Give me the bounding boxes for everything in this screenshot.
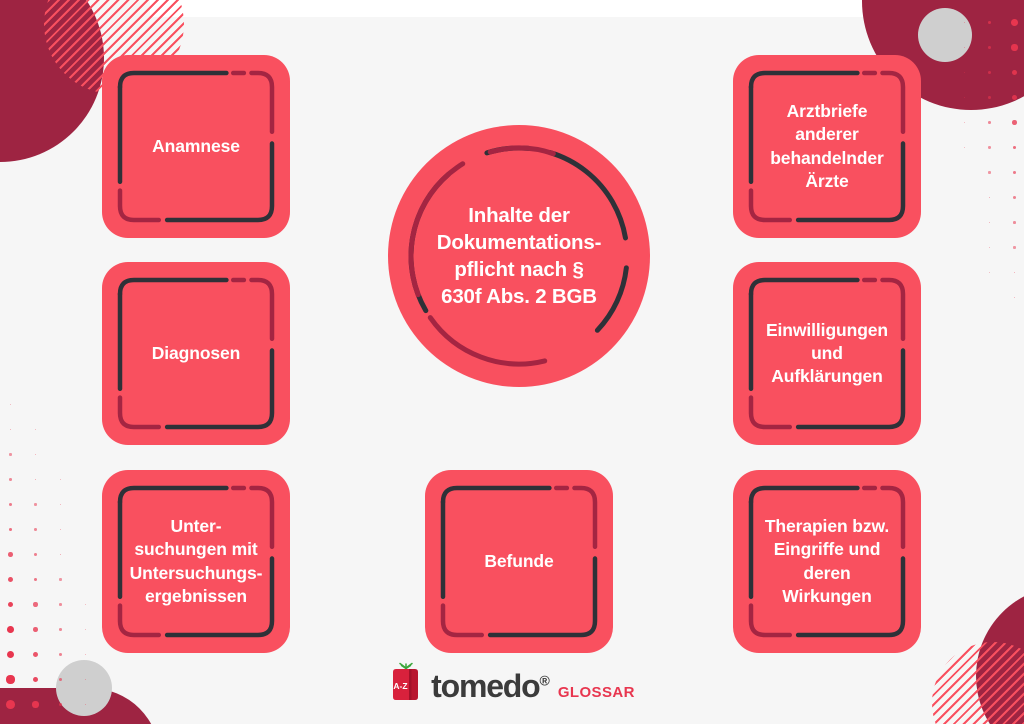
decor-dot xyxy=(60,529,62,531)
decor-dot xyxy=(1013,171,1017,175)
decor-dot xyxy=(10,429,12,431)
decor-bottom-right-maroon-circle xyxy=(976,586,1024,724)
box-line: Arztbriefe xyxy=(770,100,884,123)
decor-dot-grid-right xyxy=(952,10,1024,335)
decor-dot xyxy=(964,47,966,49)
decor-dot xyxy=(1011,44,1017,50)
decor-dot xyxy=(964,122,965,123)
logo: A-Z tomedo® GLOSSAR xyxy=(0,662,1024,702)
logo-wordmark-text: tomedo xyxy=(431,668,539,704)
box-line: deren xyxy=(765,562,889,585)
decor-dot xyxy=(9,528,13,532)
decor-dot xyxy=(8,552,13,557)
box-befunde-label: Befunde xyxy=(474,550,563,573)
tomedo-tomato-book-icon: A-Z xyxy=(389,662,423,702)
box-line: Diagnosen xyxy=(152,342,241,365)
decor-dot xyxy=(1013,221,1016,224)
decor-dot xyxy=(1012,95,1017,100)
decor-dot xyxy=(964,97,965,98)
logo-wordmark: tomedo® xyxy=(431,670,550,702)
decor-dot xyxy=(964,22,966,24)
decor-dot xyxy=(33,627,38,632)
box-untersuchungen-label: Unter- suchungen mit Untersuchungs- erge… xyxy=(120,515,273,608)
decor-dot xyxy=(34,553,37,556)
box-anamnese-label: Anamnese xyxy=(142,135,250,158)
box-einwilligungen[interactable]: Einwilligungen und Aufklärungen xyxy=(733,262,921,445)
box-arztbriefe[interactable]: Arztbriefe anderer behandelnder Ärzte xyxy=(733,55,921,238)
box-line: ergebnissen xyxy=(130,585,263,608)
infographic-canvas: Inhalte der Dokumentations- pflicht nach… xyxy=(0,0,1024,724)
box-anamnese[interactable]: Anamnese xyxy=(102,55,290,238)
decor-dot xyxy=(32,701,38,707)
decor-dot xyxy=(85,654,86,655)
decor-dot xyxy=(9,478,12,481)
box-therapien[interactable]: Therapien bzw. Eingriffe und deren Wirku… xyxy=(733,470,921,653)
decor-dot xyxy=(1012,120,1016,124)
box-diagnosen[interactable]: Diagnosen xyxy=(102,262,290,445)
center-line-2: Dokumentations- xyxy=(409,229,629,256)
decor-dot xyxy=(85,604,86,605)
box-line: Therapien bzw. xyxy=(765,515,889,538)
box-befunde[interactable]: Befunde xyxy=(425,470,613,653)
decor-dot xyxy=(8,602,14,608)
box-line: Eingriffe und xyxy=(765,538,889,561)
box-therapien-label: Therapien bzw. Eingriffe und deren Wirku… xyxy=(755,515,899,608)
decor-dot xyxy=(35,479,37,481)
box-arztbriefe-label: Arztbriefe anderer behandelnder Ärzte xyxy=(760,100,894,193)
box-line: suchungen mit xyxy=(130,538,263,561)
decor-dot xyxy=(9,503,12,506)
decor-dot xyxy=(1013,196,1016,199)
decor-dot xyxy=(1012,70,1018,76)
box-line: anderer xyxy=(770,123,884,146)
box-diagnosen-label: Diagnosen xyxy=(142,342,251,365)
decor-dot xyxy=(60,504,61,505)
decor-dot xyxy=(989,272,990,273)
decor-dot xyxy=(59,703,63,707)
box-line: und xyxy=(766,342,888,365)
decor-dot xyxy=(7,651,14,658)
decor-dot xyxy=(988,71,991,74)
center-circle: Inhalte der Dokumentations- pflicht nach… xyxy=(388,125,650,387)
registered-trademark-icon: ® xyxy=(540,672,550,688)
decor-dot xyxy=(35,454,37,456)
decor-dot xyxy=(1011,19,1018,26)
center-line-3: pflicht nach § xyxy=(409,256,629,283)
decor-dot xyxy=(988,21,992,25)
decor-dot xyxy=(85,704,87,706)
decor-dot xyxy=(1013,246,1015,248)
decor-dot xyxy=(34,503,36,505)
center-line-1: Inhalte der xyxy=(409,202,629,229)
decor-dot xyxy=(988,121,991,124)
decor-dot xyxy=(60,554,62,556)
box-einwilligungen-label: Einwilligungen und Aufklärungen xyxy=(756,319,898,389)
decor-dot xyxy=(988,171,990,173)
box-line: Unter- xyxy=(130,515,263,538)
decor-dot xyxy=(33,652,38,657)
decor-dot xyxy=(8,577,13,582)
decor-dot xyxy=(10,404,11,405)
box-untersuchungen[interactable]: Unter- suchungen mit Untersuchungs- erge… xyxy=(102,470,290,653)
decor-dot xyxy=(59,603,62,606)
decor-dot xyxy=(988,146,990,148)
decor-dot xyxy=(7,626,14,633)
box-line: Aufklärungen xyxy=(766,365,888,388)
decor-dot xyxy=(85,629,86,630)
box-line: Ärzte xyxy=(770,170,884,193)
decor-dot xyxy=(989,197,991,199)
box-line: Einwilligungen xyxy=(766,319,888,342)
logo-suffix: GLOSSAR xyxy=(558,685,635,702)
decor-dot xyxy=(35,429,36,430)
box-line: Wirkungen xyxy=(765,585,889,608)
svg-text:A-Z: A-Z xyxy=(394,681,408,691)
decor-dot xyxy=(1013,146,1017,150)
decor-dot xyxy=(1014,297,1015,298)
decor-dot xyxy=(964,147,965,148)
decor-dot xyxy=(988,96,991,99)
decor-dot xyxy=(59,653,62,656)
decor-dot xyxy=(9,453,11,455)
decor-dot xyxy=(59,628,62,631)
decor-dot xyxy=(34,578,38,582)
decor-top-left-maroon-circle xyxy=(0,0,104,162)
box-line: Untersuchungs- xyxy=(130,562,263,585)
decor-dot xyxy=(60,479,61,480)
decor-dot xyxy=(59,578,61,580)
box-line: Befunde xyxy=(484,550,553,573)
decor-dot xyxy=(988,46,992,50)
box-line: behandelnder xyxy=(770,147,884,170)
decor-dot xyxy=(34,528,37,531)
decor-dot xyxy=(989,222,991,224)
top-white-band xyxy=(150,0,872,17)
box-line: Anamnese xyxy=(152,135,240,158)
center-circle-text: Inhalte der Dokumentations- pflicht nach… xyxy=(409,202,629,311)
center-line-4: 630f Abs. 2 BGB xyxy=(409,283,629,310)
decor-dot xyxy=(1014,272,1016,274)
decor-dot xyxy=(33,602,37,606)
decor-dot xyxy=(964,72,965,73)
decor-dot xyxy=(989,247,990,248)
